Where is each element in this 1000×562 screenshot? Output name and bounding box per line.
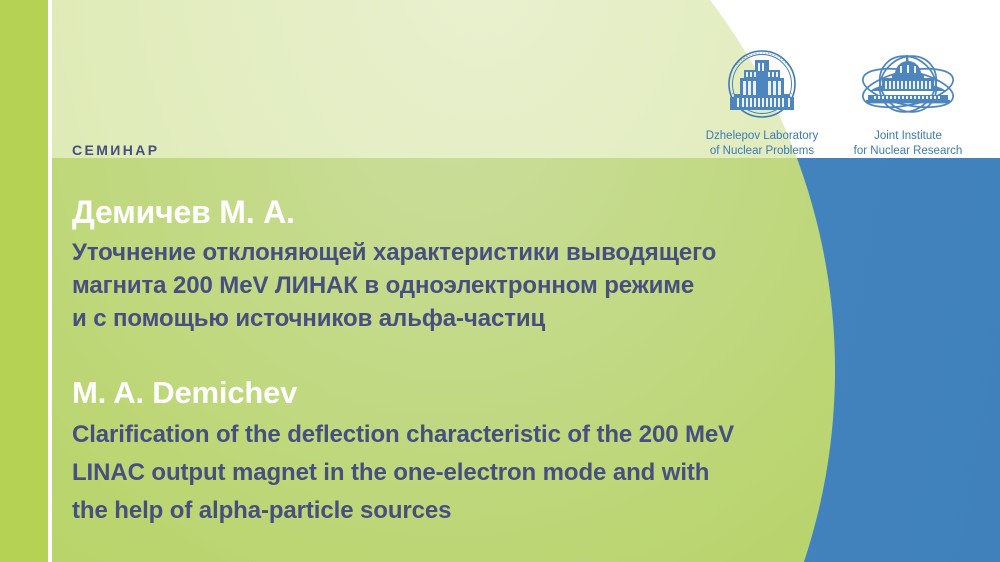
english-block: M. A. Demichev Clarification of the defl…: [72, 373, 892, 530]
talk-title-ru-line3: и с помощью источников альфа-частиц: [72, 302, 892, 335]
talk-title-en-line3: the help of alpha-particle sources: [72, 492, 892, 530]
russian-block: Демичев М. А. Уточнение отклоняющей хара…: [72, 192, 892, 335]
seminar-announcement-slide: Dzhelepov Laboratory of Nuclear Problems: [0, 0, 1000, 562]
logo-jinr-caption: Joint Institute for Nuclear Research: [854, 129, 963, 159]
logo-dlnp-caption-line2: of Nuclear Problems: [706, 144, 819, 159]
left-accent-bar: [0, 0, 48, 562]
announcement-content: Демичев М. А. Уточнение отклоняющей хара…: [72, 192, 892, 530]
logo-jinr-caption-line2: for Nuclear Research: [854, 144, 963, 159]
logo-dlnp: Dzhelepov Laboratory of Nuclear Problems: [702, 48, 822, 159]
logo-row: Dzhelepov Laboratory of Nuclear Problems: [690, 48, 980, 153]
logo-dlnp-caption-line1: Dzhelepov Laboratory: [706, 129, 819, 144]
event-type-label: СЕМИНАР: [72, 142, 160, 158]
logo-dlnp-caption: Dzhelepov Laboratory of Nuclear Problems: [706, 129, 819, 159]
talk-title-ru-line1: Уточнение отклоняющей характеристики выв…: [72, 236, 892, 269]
left-divider-line: [48, 0, 52, 562]
logo-jinr-caption-line1: Joint Institute: [854, 129, 963, 144]
talk-title-en-line1: Clarification of the deflection characte…: [72, 416, 892, 454]
jinr-atom-dome-icon: [856, 48, 960, 125]
dlnp-building-seal-icon: [716, 48, 808, 125]
speaker-name-ru: Демичев М. А.: [72, 192, 892, 232]
talk-title-ru-line2: магнита 200 MeV ЛИНАК в одноэлектронном …: [72, 269, 892, 302]
talk-title-ru: Уточнение отклоняющей характеристики выв…: [72, 236, 892, 335]
talk-title-en-line2: LINAC output magnet in the one-electron …: [72, 454, 892, 492]
talk-title-en: Clarification of the deflection characte…: [72, 416, 892, 530]
logo-jinr: Joint Institute for Nuclear Research: [848, 48, 968, 159]
speaker-name-en: M. A. Demichev: [72, 373, 892, 413]
